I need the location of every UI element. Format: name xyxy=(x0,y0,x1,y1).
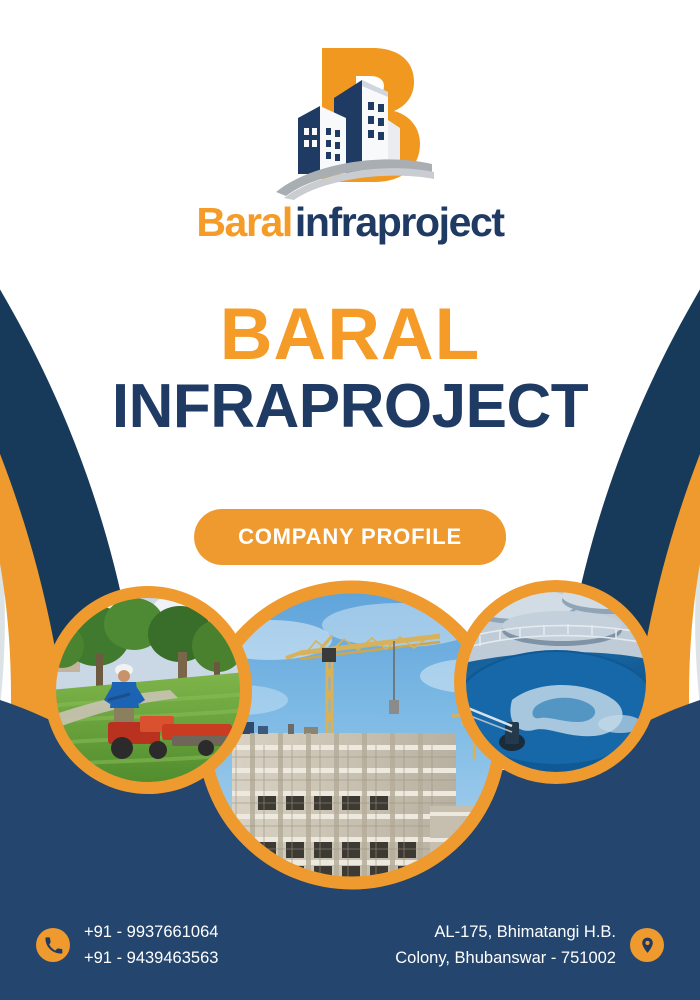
address-lines: AL-175, Bhimatangi H.B. Colony, Bhubansw… xyxy=(395,921,616,969)
logo-block: Baral infraproject xyxy=(0,40,700,243)
logo-wordmark-second: infraproject xyxy=(295,202,504,243)
location-pin-icon xyxy=(630,928,664,962)
title-line-baral: BARAL xyxy=(0,300,700,370)
phone-number-2: +91 - 9439463563 xyxy=(84,947,218,969)
address-line-2: Colony, Bhubanswar - 751002 xyxy=(395,947,616,969)
logo-wordmark-first: Baral xyxy=(196,202,292,243)
baral-building-b-logo-icon xyxy=(260,40,440,200)
company-profile-badge[interactable]: COMPANY PROFILE xyxy=(194,509,506,565)
title-line-infraproject: INFRAPROJECT xyxy=(0,374,700,439)
phone-numbers: +91 - 9937661064 +91 - 9439463563 xyxy=(84,921,218,969)
company-profile-cover: Baral infraproject BARAL INFRAPROJECT CO… xyxy=(0,0,700,1000)
page-title: BARAL INFRAPROJECT xyxy=(0,300,700,439)
contact-footer: +91 - 9937661064 +91 - 9439463563 AL-175… xyxy=(0,890,700,1000)
logo-wordmark: Baral infraproject xyxy=(196,202,503,243)
phone-number-1: +91 - 9937661064 xyxy=(84,921,218,943)
phone-icon xyxy=(36,928,70,962)
address-contact: AL-175, Bhimatangi H.B. Colony, Bhubansw… xyxy=(395,921,664,969)
address-line-1: AL-175, Bhimatangi H.B. xyxy=(395,921,616,943)
phone-contact: +91 - 9937661064 +91 - 9439463563 xyxy=(36,921,218,969)
